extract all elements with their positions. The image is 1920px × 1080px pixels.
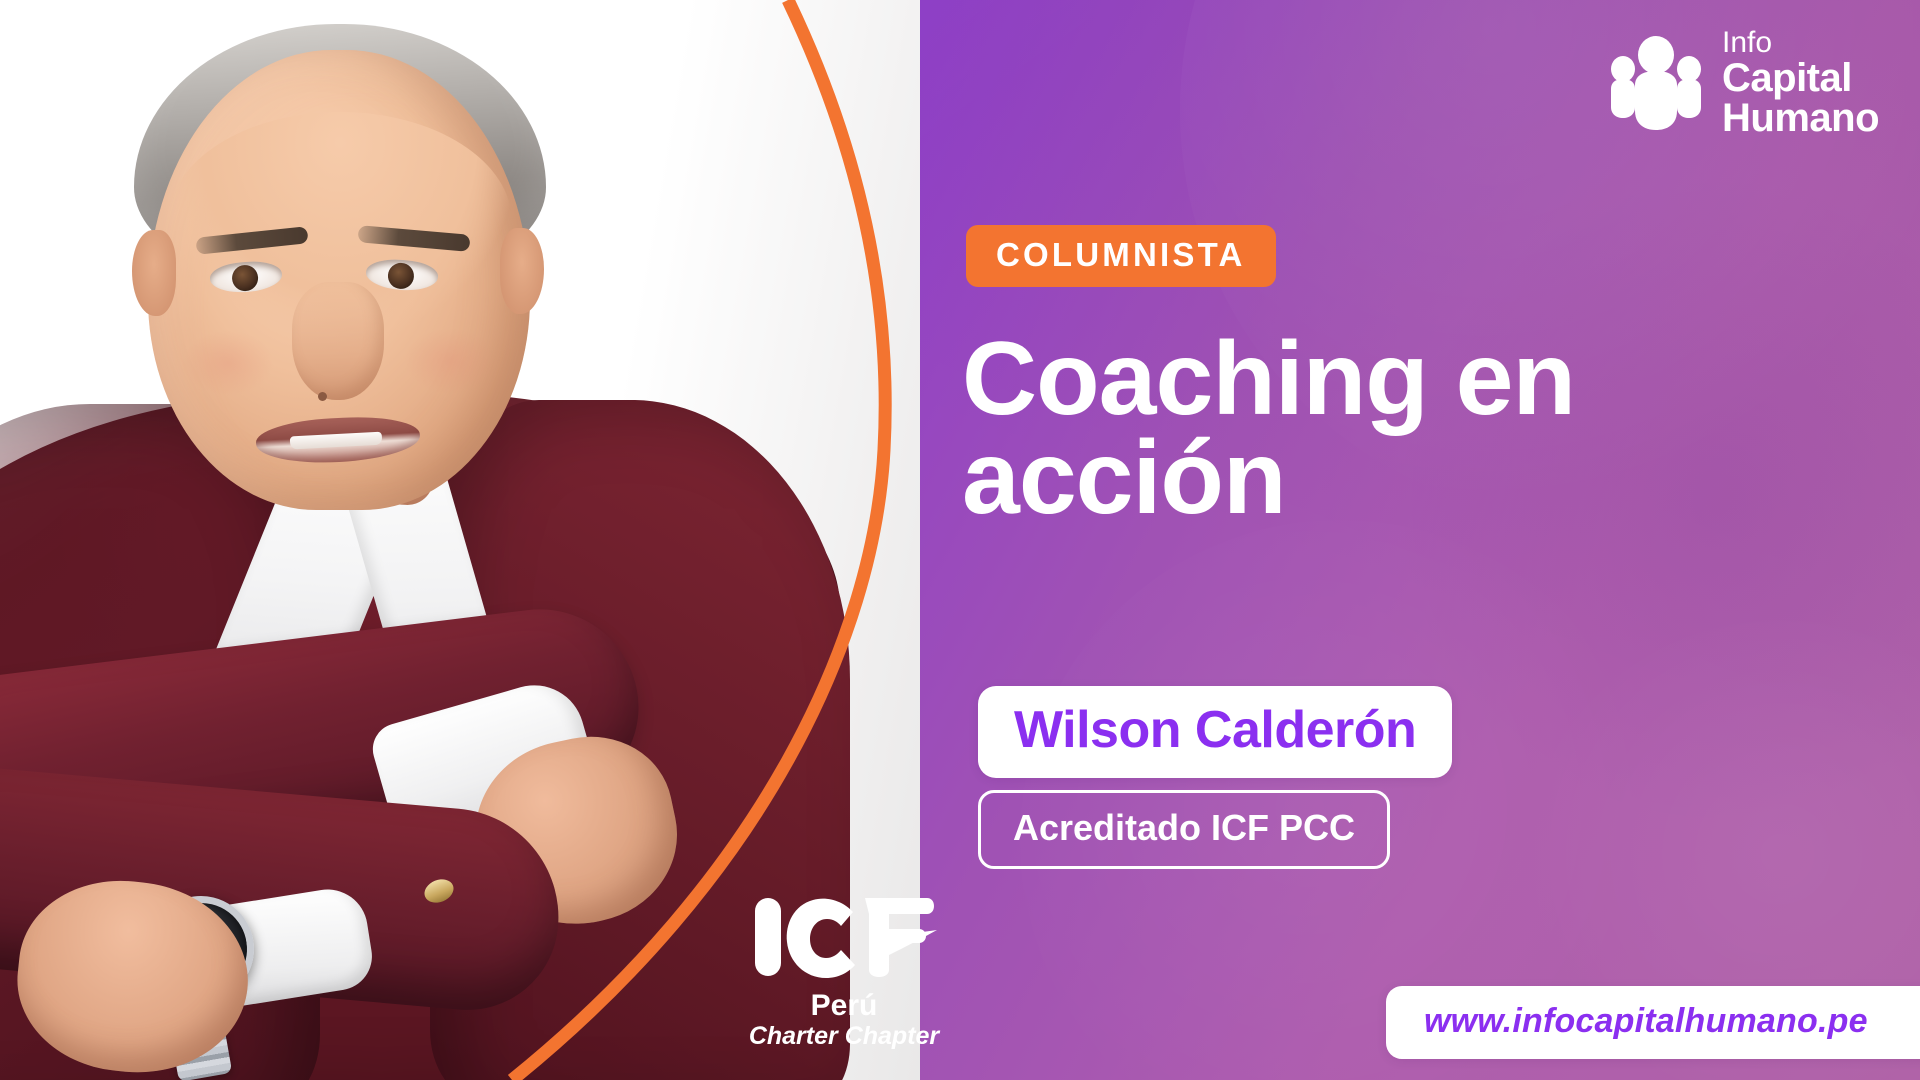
iris-left <box>231 264 259 292</box>
nose <box>292 282 384 400</box>
brand-logo: Info Capital Humano <box>1608 28 1879 138</box>
author-credential-pill: Acreditado ICF PCC <box>978 790 1390 869</box>
icf-logo: Perú Charter Chapter <box>724 888 964 1050</box>
brand-line-capital: Capital <box>1722 58 1879 98</box>
cheek-left <box>182 330 274 396</box>
headline-line-1: Coaching en <box>962 330 1802 429</box>
teeth <box>290 432 383 450</box>
promo-card: Info Capital Humano COLUMNISTA Coaching … <box>0 0 1920 1080</box>
columnista-badge: COLUMNISTA <box>966 225 1276 287</box>
brand-line-info: Info <box>1722 28 1879 58</box>
headline-line-2: acción <box>962 429 1802 528</box>
icf-wordmark-icon <box>749 888 939 988</box>
website-url-pill[interactable]: www.infocapitalhumano.pe <box>1386 986 1920 1059</box>
icf-country-label: Perú <box>724 990 964 1022</box>
headline: Coaching en acción <box>962 330 1802 528</box>
brand-line-humano: Humano <box>1722 98 1879 138</box>
iris-right <box>387 262 415 290</box>
author-name-pill: Wilson Calderón <box>978 686 1452 778</box>
brand-text: Info Capital Humano <box>1722 28 1879 138</box>
mole <box>318 392 327 401</box>
cheek-right <box>404 328 496 394</box>
ear-right <box>500 228 544 314</box>
three-people-group-icon <box>1608 33 1704 133</box>
ear-left <box>132 230 176 316</box>
icf-chapter-label: Charter Chapter <box>724 1022 964 1051</box>
